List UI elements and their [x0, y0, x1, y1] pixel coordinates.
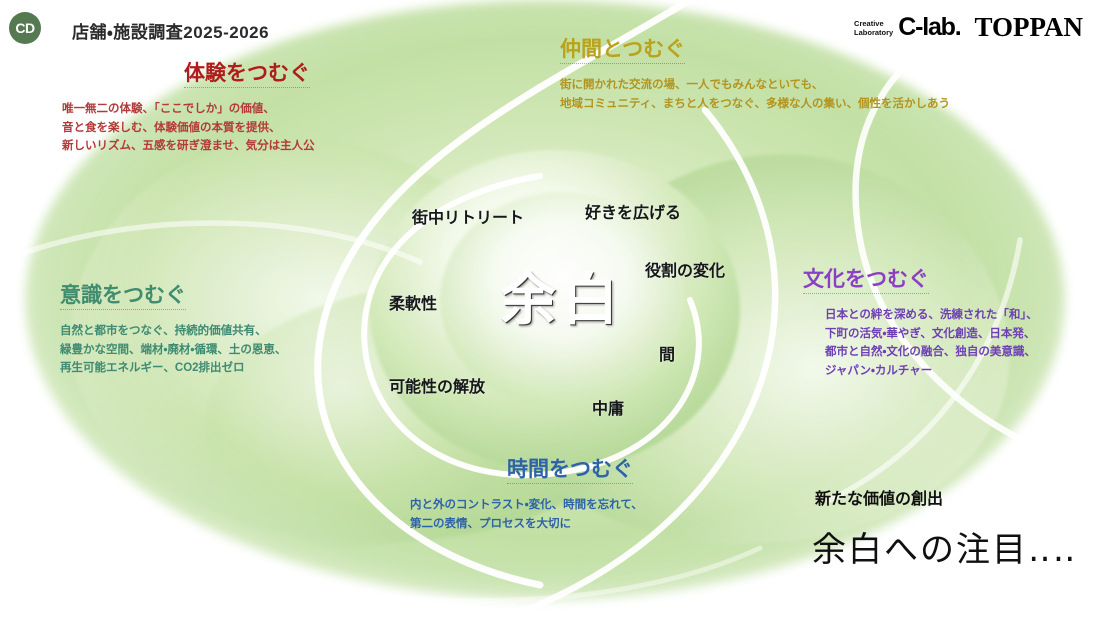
- center-keyword-yohaku: 余白: [500, 272, 624, 328]
- keyword-chuuyou: 中庸: [592, 395, 624, 419]
- theme-title-ishiki: 意識をつむぐ: [60, 284, 186, 310]
- toppan-wordmark: TOPPAN: [974, 14, 1083, 41]
- keyword-machinaka-retreat: 街中リトリート: [412, 204, 524, 228]
- theme-title-taiken: 体験をつむぐ: [184, 62, 310, 88]
- creative-laboratory-label: Creative Laboratory: [854, 19, 893, 37]
- theme-block-bunka: 文化をつむぐ 日本との絆を深める、洗練された「和」、 下町の活気・華やぎ、文化創…: [803, 268, 1093, 381]
- keyword-suki-wo-hirogeru: 好きを広げる: [585, 199, 681, 223]
- theme-title-nakama: 仲間とつむぐ: [560, 38, 685, 64]
- page-title: 店舗・施設調査2025-2026: [72, 18, 269, 43]
- theme-title-jikan: 時間をつむぐ: [507, 458, 633, 484]
- keyword-ma: 間: [659, 341, 675, 365]
- brand-logos: Creative Laboratory C-lab. TOPPAN: [854, 14, 1083, 41]
- clab-logo: Creative Laboratory C-lab.: [854, 15, 960, 40]
- theme-body-nakama: 街に開かれた交流の場、一人でもみんなといても、 地域コミュニティ、まちと人をつな…: [560, 76, 1080, 113]
- theme-block-jikan: 時間をつむぐ 内と外のコントラスト・変化、時間を忘れて、 第二の表情、プロセスを…: [410, 458, 730, 533]
- clab-wordmark: C-lab.: [898, 15, 960, 40]
- keyword-kanousei-no-kaihou: 可能性の解放: [389, 373, 485, 397]
- theme-block-taiken: 体験をつむぐ 唯一無二の体験、「ここでしか」の価値、 音と食を楽しむ、体験価値の…: [62, 62, 422, 156]
- theme-title-bunka: 文化をつむぐ: [803, 268, 929, 294]
- keyword-junansei: 柔軟性: [389, 290, 437, 314]
- creative-line-2: Laboratory: [854, 28, 893, 37]
- theme-block-ishiki: 意識をつむぐ 自然と都市をつなぐ、持続的価値共有、 緑豊かな空間、端材・廃材・循…: [60, 284, 390, 378]
- logo-text: CD: [15, 20, 34, 36]
- conclusion-subtitle: 新たな価値の創出: [815, 485, 943, 509]
- theme-body-bunka: 日本との絆を深める、洗練された「和」、 下町の活気・華やぎ、文化創造、日本発、 …: [825, 306, 1093, 381]
- keyword-yakuwari-no-henka: 役割の変化: [645, 257, 725, 281]
- theme-body-taiken: 唯一無二の体験、「ここでしか」の価値、 音と食を楽しむ、体験価値の本質を提供、 …: [62, 100, 422, 156]
- conclusion-headline: 余白への注目‥‥: [812, 522, 1077, 571]
- theme-body-jikan: 内と外のコントラスト・変化、時間を忘れて、 第二の表情、プロセスを大切に: [410, 496, 730, 533]
- cd-circle-logo-icon: CD: [9, 12, 41, 44]
- creative-line-1: Creative: [854, 19, 893, 28]
- theme-block-nakama: 仲間とつむぐ 街に開かれた交流の場、一人でもみんなといても、 地域コミュニティ、…: [560, 38, 1080, 113]
- theme-body-ishiki: 自然と都市をつなぐ、持続的価値共有、 緑豊かな空間、端材・廃材・循環、土の恩恵、…: [60, 322, 390, 378]
- slide-canvas: CD 店舗・施設調査2025-2026 Creative Laboratory …: [0, 0, 1103, 620]
